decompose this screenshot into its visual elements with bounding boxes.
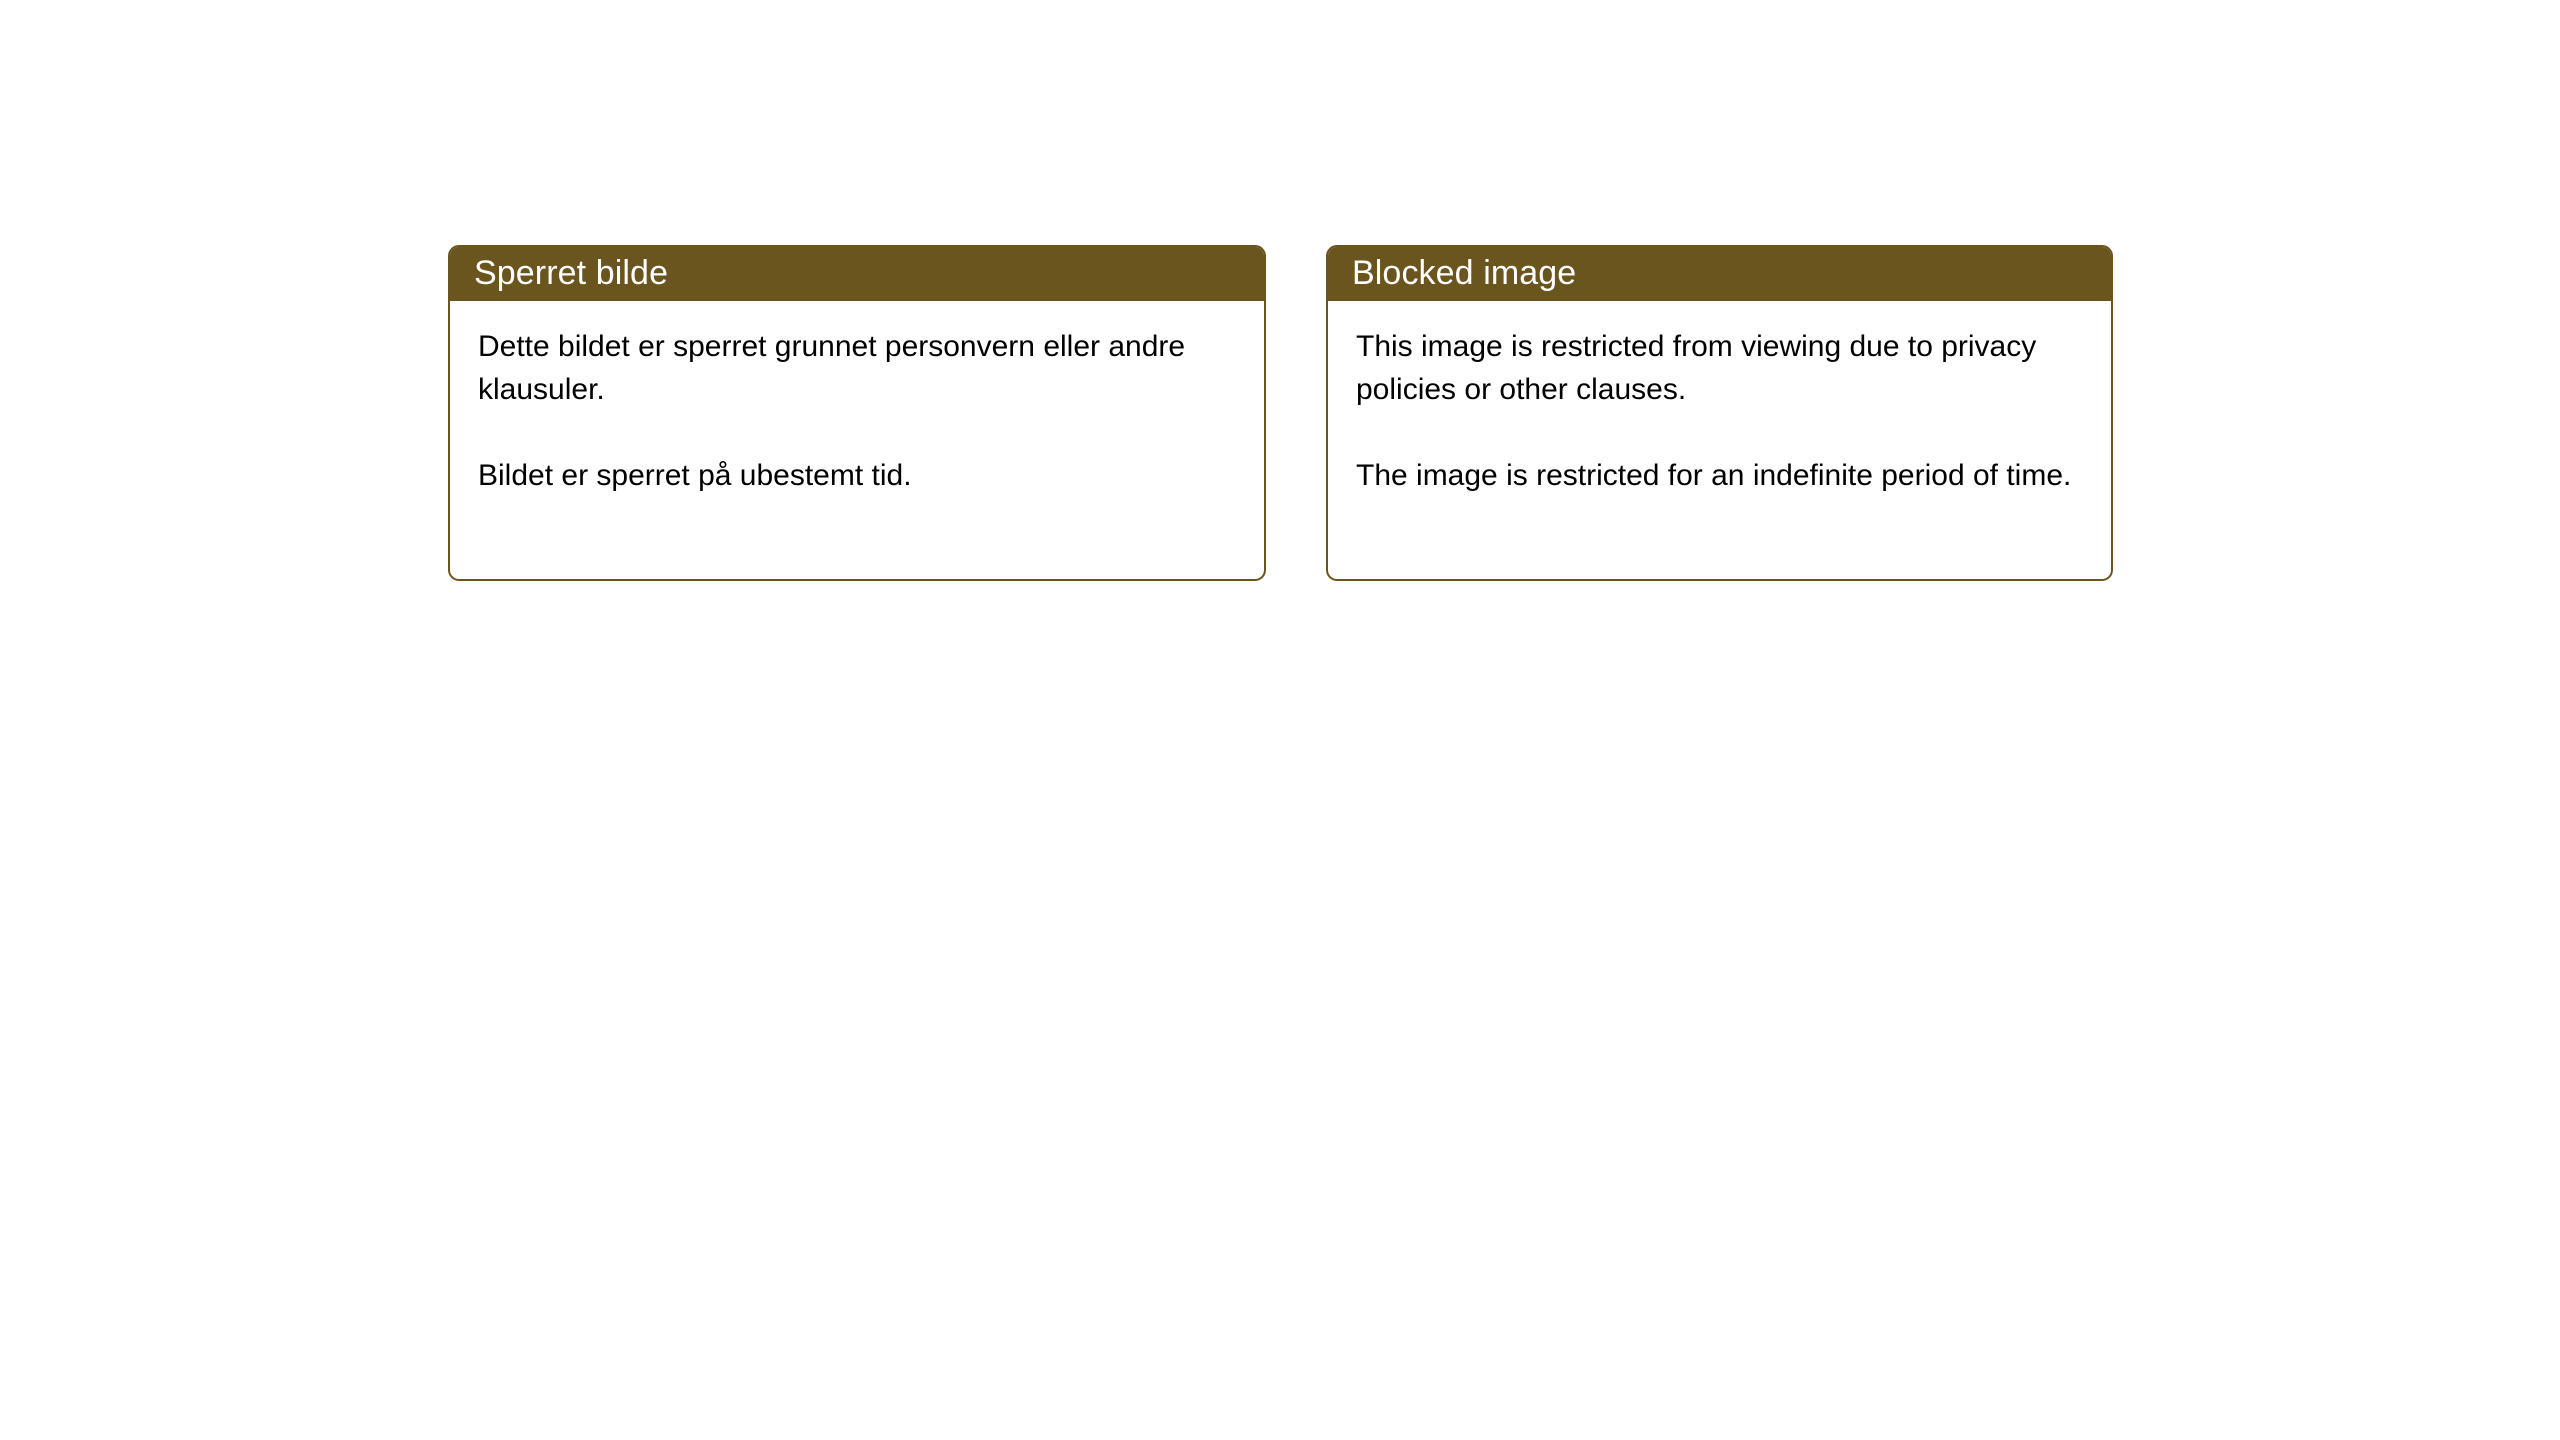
notice-paragraph-secondary-en: The image is restricted for an indefinit…: [1356, 454, 2085, 497]
paragraph-spacer-en: [1356, 411, 2085, 454]
notice-paragraph-secondary-no: Bildet er sperret på ubestemt tid.: [478, 454, 1238, 497]
notice-paragraph-primary-no: Dette bildet er sperret grunnet personve…: [478, 325, 1238, 411]
blocked-image-notice-card-en: Blocked image This image is restricted f…: [1326, 245, 2113, 581]
notice-card-title-en: Blocked image: [1352, 245, 1576, 301]
page-root: Sperret bilde Dette bildet er sperret gr…: [0, 0, 2560, 1440]
paragraph-spacer-no: [478, 411, 1238, 454]
blocked-image-notice-card-no: Sperret bilde Dette bildet er sperret gr…: [448, 245, 1266, 581]
notice-paragraph-primary-en: This image is restricted from viewing du…: [1356, 325, 2085, 411]
notice-card-body-no: Dette bildet er sperret grunnet personve…: [450, 301, 1264, 497]
notice-card-header-no: Sperret bilde: [448, 245, 1266, 301]
notice-card-header-en: Blocked image: [1326, 245, 2113, 301]
notice-card-title-no: Sperret bilde: [474, 245, 668, 301]
notice-card-body-en: This image is restricted from viewing du…: [1328, 301, 2111, 497]
